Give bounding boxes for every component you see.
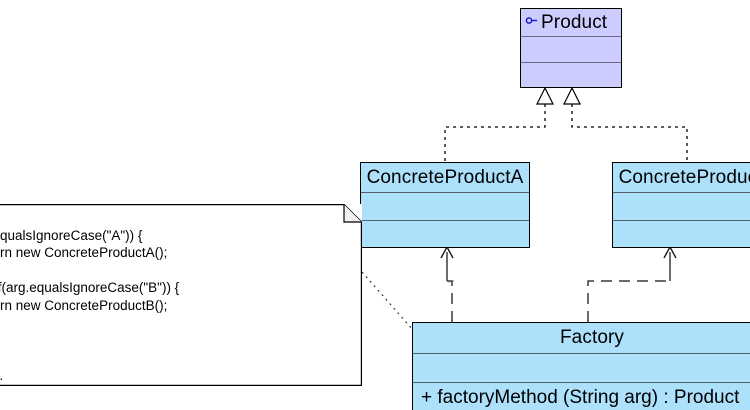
class-box-factory[interactable]: Factory + factoryMethod (String arg) : P… xyxy=(412,322,750,410)
uml-diagram-canvas: Product --> Product --> xyxy=(0,0,750,410)
factory-attributes-compartment xyxy=(413,354,750,383)
realization-b-connector xyxy=(564,88,687,162)
class-box-concrete-product-b[interactable]: ConcreteProductB xyxy=(612,162,750,248)
class-box-concrete-product-a[interactable]: ConcreteProductA xyxy=(360,162,530,248)
dependency-a-connector xyxy=(448,281,454,322)
dependency-b-arrow xyxy=(588,247,676,322)
code-note[interactable]: if(arg.equalsIgnoreCase("A")) { return n… xyxy=(0,204,362,386)
dependency-a-arrow xyxy=(441,247,453,322)
note-code-text: if(arg.equalsIgnoreCase("A")) { return n… xyxy=(0,227,354,385)
interface-icon xyxy=(525,16,538,29)
factory-name-label: Factory xyxy=(413,323,750,354)
class-box-product[interactable]: Product xyxy=(520,8,622,88)
concrete-product-a-attributes-compartment xyxy=(361,193,529,221)
product-attributes-compartment xyxy=(521,37,621,63)
realization-a-connector xyxy=(445,88,553,162)
product-name-compartment: Product xyxy=(521,9,621,37)
product-operations-compartment xyxy=(521,63,621,87)
concrete-product-b-operations-compartment xyxy=(613,221,750,247)
concrete-product-b-attributes-compartment xyxy=(613,193,750,221)
product-name-label: Product xyxy=(541,12,607,34)
concrete-product-a-operations-compartment xyxy=(361,221,529,247)
factory-operation-label: + factoryMethod (String arg) : Product xyxy=(413,383,750,410)
concrete-product-b-name-label: ConcreteProductB xyxy=(613,163,750,193)
concrete-product-a-name-label: ConcreteProductA xyxy=(361,163,529,193)
